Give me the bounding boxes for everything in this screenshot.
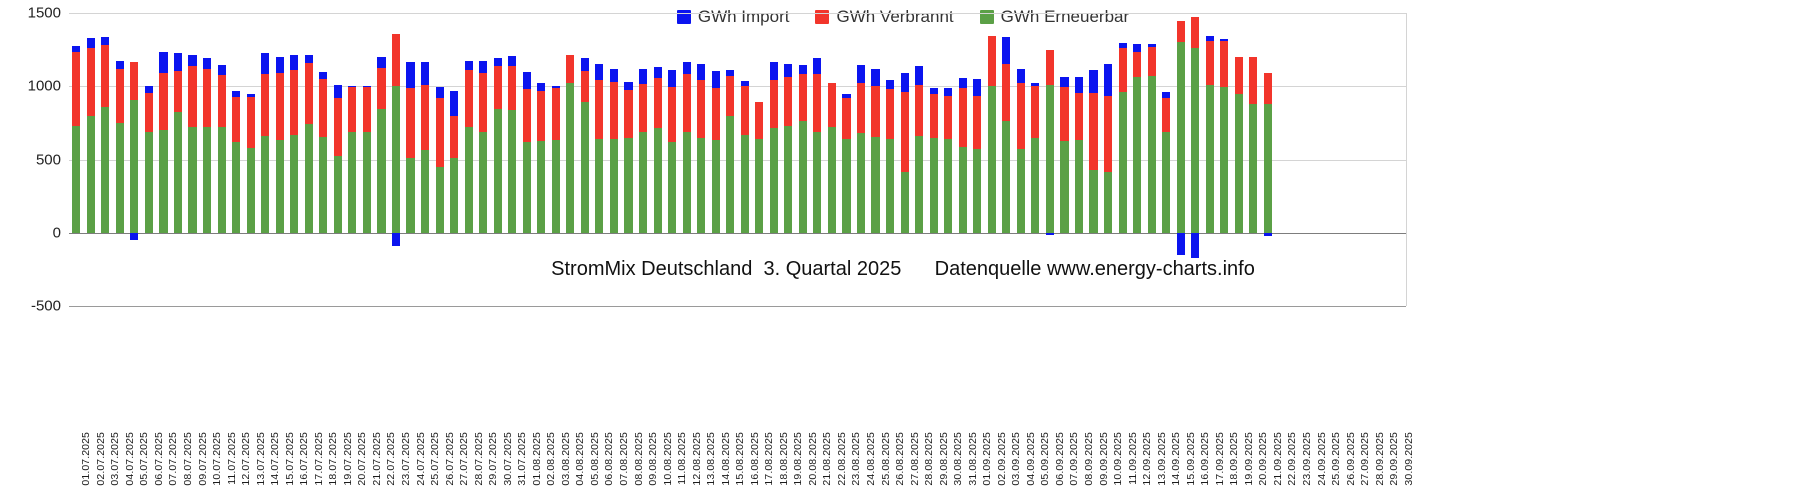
- bar-segment-verbrannt: [842, 98, 850, 139]
- y-tick-label-500: 500: [36, 151, 61, 168]
- bar-segment-import: [944, 88, 952, 96]
- bar-segment-verbrannt: [871, 86, 879, 137]
- x-tick-label: 30.08.2025: [952, 432, 964, 486]
- bar-segment-import: [203, 58, 211, 69]
- bar-segment-import: [624, 82, 632, 90]
- bar-segment-verbrannt: [1060, 87, 1068, 141]
- bar-segment-erneuerbar: [377, 109, 385, 233]
- bar-segment-import: [363, 86, 371, 87]
- bar-segment-import: [1220, 39, 1228, 41]
- x-tick-label: 15.07.2025: [284, 432, 296, 486]
- bar-segment-erneuerbar: [901, 172, 909, 233]
- x-tick-label: 09.07.2025: [197, 432, 209, 486]
- bar-segment-verbrannt: [1089, 93, 1097, 171]
- bar-segment-import: [537, 83, 545, 91]
- x-tick-label: 28.09.2025: [1374, 432, 1386, 486]
- bar-segment-erneuerbar: [116, 123, 124, 233]
- bar-segment-import: [188, 55, 196, 66]
- bar-segment-verbrannt: [1220, 41, 1228, 87]
- bar-segment-import: [1075, 77, 1083, 92]
- x-tick-label: 30.07.2025: [502, 432, 514, 486]
- bar-segment-import: [1017, 69, 1025, 83]
- bar-segment-erneuerbar: [101, 107, 109, 233]
- bar-segment-import: [261, 53, 269, 74]
- x-tick-label: 10.07.2025: [211, 432, 223, 486]
- bar-segment-import: [1031, 83, 1039, 85]
- bar-segment-erneuerbar: [232, 142, 240, 233]
- x-axis-labels: 01.07.202502.07.202503.07.202504.07.2025…: [69, 306, 1406, 441]
- bar-segment-erneuerbar: [1133, 77, 1141, 232]
- x-tick-label: 18.08.2025: [778, 432, 790, 486]
- x-tick-label: 28.07.2025: [473, 432, 485, 486]
- bar-segment-erneuerbar: [988, 86, 996, 233]
- bar-segment-import: [639, 69, 647, 84]
- y-axis-labels: 150010005000-500: [0, 0, 69, 441]
- bar-segment-erneuerbar: [1017, 149, 1025, 233]
- bar-segment-verbrannt: [1177, 21, 1185, 42]
- bar-segment-verbrannt: [377, 68, 385, 109]
- bar-segment-import: [494, 58, 502, 67]
- bar-segment-import: [813, 58, 821, 74]
- bar-segment-erneuerbar: [261, 136, 269, 233]
- bar-segment-import: [232, 91, 240, 97]
- x-tick-label: 07.09.2025: [1068, 432, 1080, 486]
- bar-segment-import: [421, 62, 429, 85]
- bar-segment-import: [654, 67, 662, 78]
- bar-segment-erneuerbar: [915, 136, 923, 233]
- x-tick-label: 01.07.2025: [80, 432, 92, 486]
- bar-segment-erneuerbar: [145, 132, 153, 233]
- bar-segment-verbrannt: [654, 78, 662, 128]
- x-tick-label: 02.07.2025: [95, 432, 107, 486]
- bar-segment-erneuerbar: [1089, 170, 1097, 232]
- x-tick-label: 24.09.2025: [1316, 432, 1328, 486]
- x-tick-label: 02.08.2025: [545, 432, 557, 486]
- bar-segment-erneuerbar: [421, 150, 429, 233]
- x-tick-label: 06.08.2025: [603, 432, 615, 486]
- bar-segment-erneuerbar: [436, 167, 444, 233]
- bar-segment-verbrannt: [1002, 64, 1010, 122]
- bar-segment-erneuerbar: [1046, 85, 1054, 233]
- bar-segment-verbrannt: [595, 80, 603, 139]
- bar-segment-erneuerbar: [581, 102, 589, 232]
- y-tick-label--500: -500: [31, 298, 61, 315]
- bar-segment-erneuerbar: [973, 149, 981, 233]
- bar-segment-erneuerbar: [1162, 132, 1170, 233]
- bar-segment-verbrannt: [712, 88, 720, 140]
- x-tick-label: 21.07.2025: [371, 432, 383, 486]
- bar-segment-erneuerbar: [87, 116, 95, 233]
- bar-segment-erneuerbar: [218, 127, 226, 233]
- x-tick-label: 24.07.2025: [415, 432, 427, 486]
- bar-segment-verbrannt: [218, 75, 226, 127]
- bar-segment-import: [1148, 44, 1156, 48]
- bar-segment-erneuerbar: [479, 132, 487, 233]
- bar-segment-import-negative: [1177, 233, 1185, 256]
- bar-segment-erneuerbar: [508, 110, 516, 232]
- bar-segment-verbrannt: [392, 34, 400, 86]
- bar-segment-verbrannt: [959, 88, 967, 147]
- bar-segment-import-negative: [392, 233, 400, 246]
- bar-segment-import-negative: [1046, 233, 1054, 235]
- bar-segment-erneuerbar: [566, 83, 574, 232]
- x-tick-label: 29.09.2025: [1388, 432, 1400, 486]
- bar-segment-verbrannt: [1249, 57, 1257, 104]
- bar-segment-import: [552, 86, 560, 88]
- bar-segment-erneuerbar: [741, 135, 749, 233]
- x-tick-label: 26.08.2025: [894, 432, 906, 486]
- bar-segment-erneuerbar: [392, 86, 400, 233]
- bar-segment-verbrannt: [450, 116, 458, 158]
- bar-segment-erneuerbar: [523, 142, 531, 233]
- x-tick-label: 04.07.2025: [124, 432, 136, 486]
- bar-segment-import: [741, 81, 749, 85]
- bar-segment-verbrannt: [1206, 41, 1214, 85]
- bar-segment-erneuerbar: [828, 127, 836, 232]
- bar-segment-import: [450, 91, 458, 116]
- x-tick-label: 30.09.2025: [1403, 432, 1415, 486]
- x-tick-label: 10.09.2025: [1112, 432, 1124, 486]
- x-tick-label: 01.08.2025: [531, 432, 543, 486]
- bar-segment-verbrannt: [944, 96, 952, 139]
- bar-segment-erneuerbar: [188, 127, 196, 232]
- bar-segment-import: [697, 64, 705, 81]
- bar-segment-verbrannt: [436, 98, 444, 167]
- bar-segment-import: [726, 70, 734, 76]
- bar-segment-import: [1162, 92, 1170, 98]
- bar-segment-import: [305, 55, 313, 63]
- bar-segment-import: [1104, 64, 1112, 95]
- x-tick-label: 31.08.2025: [967, 432, 979, 486]
- bar-segment-erneuerbar: [406, 158, 414, 233]
- bar-segment-verbrannt: [261, 74, 269, 136]
- bar-segment-verbrannt: [857, 83, 865, 134]
- bar-segment-verbrannt: [87, 48, 95, 115]
- bar-segment-import: [290, 55, 298, 70]
- bar-segment-import: [610, 69, 618, 82]
- bar-segment-verbrannt: [828, 83, 836, 128]
- bar-segment-erneuerbar: [944, 139, 952, 233]
- bar-segment-verbrannt: [1046, 50, 1054, 84]
- bar-segment-verbrannt: [799, 74, 807, 122]
- bar-segment-erneuerbar: [348, 132, 356, 232]
- bar-segment-import: [886, 80, 894, 90]
- x-tick-label: 13.08.2025: [705, 432, 717, 486]
- bar-segment-erneuerbar: [668, 142, 676, 233]
- bar-segment-import-negative: [1264, 233, 1272, 237]
- bar-segment-erneuerbar: [1031, 138, 1039, 232]
- bar-segment-verbrannt: [1264, 73, 1272, 104]
- x-tick-label: 17.09.2025: [1214, 432, 1226, 486]
- x-tick-label: 24.08.2025: [865, 432, 877, 486]
- x-tick-label: 02.09.2025: [996, 432, 1008, 486]
- x-tick-label: 13.09.2025: [1156, 432, 1168, 486]
- bar-segment-verbrannt: [523, 89, 531, 142]
- bar-segment-import: [436, 87, 444, 98]
- bar-segment-import: [1133, 44, 1141, 52]
- bar-segment-import-negative: [1191, 233, 1199, 259]
- bar-segment-erneuerbar: [203, 127, 211, 232]
- bar-segment-erneuerbar: [1119, 92, 1127, 233]
- bar-segment-import: [799, 65, 807, 74]
- bar-segment-erneuerbar: [537, 141, 545, 233]
- bar-segment-verbrannt: [566, 55, 574, 84]
- bar-segment-erneuerbar: [624, 138, 632, 232]
- bar-segment-erneuerbar: [247, 148, 255, 233]
- bar-segment-verbrannt: [494, 66, 502, 108]
- bar-segment-verbrannt: [770, 80, 778, 128]
- x-tick-label: 17.08.2025: [763, 432, 775, 486]
- x-tick-label: 25.09.2025: [1330, 432, 1342, 486]
- x-tick-label: 11.09.2025: [1127, 432, 1139, 485]
- bar-segment-import: [72, 46, 80, 52]
- bar-segment-verbrannt: [247, 97, 255, 148]
- bar-segment-erneuerbar: [799, 121, 807, 232]
- x-tick-label: 15.08.2025: [734, 432, 746, 486]
- x-tick-label: 21.09.2025: [1272, 432, 1284, 486]
- x-tick-label: 23.07.2025: [400, 432, 412, 486]
- bar-segment-import: [101, 37, 109, 45]
- x-tick-label: 29.08.2025: [938, 432, 950, 486]
- x-tick-label: 07.07.2025: [167, 432, 179, 486]
- x-tick-label: 31.07.2025: [516, 432, 528, 486]
- bar-segment-erneuerbar: [610, 139, 618, 233]
- bar-segment-import: [1119, 43, 1127, 48]
- x-tick-label: 22.07.2025: [385, 432, 397, 486]
- x-tick-label: 14.08.2025: [720, 432, 732, 486]
- bar-segment-import: [465, 61, 473, 71]
- x-tick-label: 27.09.2025: [1359, 432, 1371, 486]
- bar-segment-erneuerbar: [871, 137, 879, 233]
- bar-segment-verbrannt: [1017, 83, 1025, 148]
- x-tick-label: 03.08.2025: [560, 432, 572, 486]
- bar-segment-erneuerbar: [712, 140, 720, 232]
- bar-segment-erneuerbar: [1075, 140, 1083, 233]
- bar-segment-erneuerbar: [886, 139, 894, 233]
- x-tick-label: 22.08.2025: [836, 432, 848, 486]
- bar-segment-import: [959, 78, 967, 88]
- bar-segment-erneuerbar: [319, 137, 327, 233]
- bar-segment-verbrannt: [901, 92, 909, 172]
- x-tick-label: 11.07.2025: [226, 432, 238, 485]
- x-tick-label: 16.09.2025: [1199, 432, 1211, 486]
- bar-segment-import: [159, 52, 167, 73]
- bar-segment-import: [871, 69, 879, 86]
- x-tick-label: 16.07.2025: [298, 432, 310, 486]
- x-tick-label: 14.09.2025: [1170, 432, 1182, 486]
- bar-segment-verbrannt: [290, 70, 298, 134]
- x-tick-label: 05.08.2025: [589, 432, 601, 486]
- y-tick-label-0: 0: [53, 224, 61, 241]
- bar-segment-import: [334, 85, 342, 98]
- bar-segment-import: [915, 66, 923, 85]
- bar-segment-import: [1206, 36, 1214, 40]
- bar-segment-erneuerbar: [813, 132, 821, 233]
- bar-segment-verbrannt: [232, 97, 240, 142]
- bar-segment-erneuerbar: [1264, 104, 1272, 233]
- bar-segment-import: [930, 88, 938, 95]
- bar-segment-verbrannt: [886, 89, 894, 139]
- bar-segment-verbrannt: [1148, 47, 1156, 76]
- x-tick-label: 22.09.2025: [1286, 432, 1298, 486]
- x-tick-label: 04.08.2025: [574, 432, 586, 486]
- bar-segment-erneuerbar: [1220, 87, 1228, 233]
- bar-segment-import: [901, 73, 909, 92]
- bar-segment-verbrannt: [1031, 86, 1039, 139]
- bar-segment-verbrannt: [581, 71, 589, 102]
- x-tick-label: 04.09.2025: [1025, 432, 1037, 486]
- bar-segment-import: [406, 62, 414, 88]
- bar-segment-erneuerbar: [334, 156, 342, 233]
- bar-segment-erneuerbar: [857, 133, 865, 233]
- bar-segment-import: [116, 61, 124, 69]
- x-tick-label: 05.09.2025: [1039, 432, 1051, 486]
- x-tick-label: 07.08.2025: [618, 432, 630, 486]
- bar-segment-verbrannt: [1104, 96, 1112, 172]
- x-tick-label: 12.08.2025: [691, 432, 703, 486]
- bar-segment-erneuerbar: [726, 116, 734, 232]
- bar-segment-verbrannt: [915, 85, 923, 136]
- x-tick-label: 27.08.2025: [909, 432, 921, 486]
- bar-segment-erneuerbar: [130, 100, 138, 233]
- bar-segment-erneuerbar: [305, 124, 313, 232]
- bar-segment-verbrannt: [145, 93, 153, 132]
- x-tick-label: 23.09.2025: [1301, 432, 1313, 486]
- bar-segment-erneuerbar: [1002, 121, 1010, 232]
- bar-segment-verbrannt: [610, 82, 618, 139]
- x-tick-label: 01.09.2025: [981, 432, 993, 486]
- bar-segment-erneuerbar: [842, 139, 850, 233]
- bar-segment-erneuerbar: [1177, 42, 1185, 233]
- x-tick-label: 11.08.2025: [676, 432, 688, 485]
- x-tick-label: 19.09.2025: [1243, 432, 1255, 486]
- x-tick-label: 09.08.2025: [647, 432, 659, 486]
- x-tick-label: 29.07.2025: [487, 432, 499, 486]
- bar-segment-verbrannt: [1191, 17, 1199, 48]
- bar-segment-erneuerbar: [930, 138, 938, 232]
- x-tick-label: 12.07.2025: [240, 432, 252, 486]
- bar-segment-import: [377, 57, 385, 68]
- bar-segment-verbrannt: [741, 86, 749, 135]
- bar-segment-verbrannt: [334, 98, 342, 156]
- bar-segment-verbrannt: [276, 73, 284, 140]
- bar-segment-verbrannt: [348, 87, 356, 132]
- bar-segment-import: [1002, 37, 1010, 63]
- x-tick-label: 08.08.2025: [633, 432, 645, 486]
- bar-segment-verbrannt: [1133, 52, 1141, 78]
- x-tick-label: 15.09.2025: [1185, 432, 1197, 486]
- x-tick-label: 12.09.2025: [1141, 432, 1153, 486]
- bar-segment-erneuerbar: [755, 139, 763, 233]
- bar-segment-import: [479, 61, 487, 73]
- bar-segment-verbrannt: [1162, 98, 1170, 132]
- bar-segment-verbrannt: [363, 86, 371, 131]
- bar-segment-import: [218, 65, 226, 75]
- bar-segment-verbrannt: [72, 52, 80, 126]
- bar-segment-verbrannt: [537, 91, 545, 142]
- chart-title: StromMix Deutschland 3. Quartal 2025 Dat…: [0, 258, 1806, 281]
- x-tick-label: 06.07.2025: [153, 432, 165, 486]
- y-tick-label-1000: 1000: [28, 78, 61, 95]
- x-tick-label: 27.07.2025: [458, 432, 470, 486]
- bar-segment-erneuerbar: [552, 140, 560, 232]
- bar-segment-import: [784, 64, 792, 77]
- bar-segment-verbrannt: [1235, 57, 1243, 94]
- bar-segment-import: [523, 72, 531, 89]
- bar-segment-verbrannt: [668, 87, 676, 142]
- bar-segment-import: [581, 58, 589, 71]
- x-tick-label: 18.09.2025: [1228, 432, 1240, 486]
- x-tick-label: 06.09.2025: [1054, 432, 1066, 486]
- bar-segment-verbrannt: [479, 73, 487, 132]
- bar-segment-erneuerbar: [1249, 104, 1257, 233]
- bar-segment-erneuerbar: [276, 140, 284, 232]
- bar-segment-import: [319, 72, 327, 79]
- x-tick-label: 25.07.2025: [429, 432, 441, 486]
- bar-segment-erneuerbar: [1104, 172, 1112, 233]
- bar-segment-verbrannt: [130, 62, 138, 100]
- bar-segment-import: [973, 79, 981, 96]
- bar-segment-import: [348, 86, 356, 87]
- bar-segment-erneuerbar: [450, 158, 458, 233]
- bar-segment-verbrannt: [930, 94, 938, 138]
- x-tick-label: 20.09.2025: [1257, 432, 1269, 486]
- bar-segment-import: [770, 62, 778, 80]
- bar-segment-erneuerbar: [465, 127, 473, 232]
- bar-segment-verbrannt: [683, 74, 691, 133]
- bar-segment-verbrannt: [813, 74, 821, 132]
- x-tick-label: 19.07.2025: [342, 432, 354, 486]
- bar-segment-import: [1060, 77, 1068, 87]
- bar-segment-verbrannt: [726, 76, 734, 116]
- x-tick-label: 26.09.2025: [1345, 432, 1357, 486]
- x-tick-label: 08.09.2025: [1083, 432, 1095, 486]
- bar-segment-erneuerbar: [1206, 85, 1214, 233]
- bar-segment-verbrannt: [697, 80, 705, 137]
- bar-segment-verbrannt: [319, 79, 327, 137]
- bar-segment-erneuerbar: [1235, 94, 1243, 233]
- x-tick-label: 14.07.2025: [269, 432, 281, 486]
- bar-segment-import: [712, 71, 720, 89]
- bar-segment-verbrannt: [406, 88, 414, 158]
- bar-segment-verbrannt: [1119, 48, 1127, 92]
- bar-segment-verbrannt: [508, 66, 516, 110]
- x-tick-label: 08.07.2025: [182, 432, 194, 486]
- x-tick-label: 13.07.2025: [255, 432, 267, 486]
- bar-segment-import: [842, 94, 850, 98]
- bar-segment-import: [508, 56, 516, 66]
- bar-segment-erneuerbar: [159, 130, 167, 233]
- bar-segment-verbrannt: [465, 70, 473, 127]
- x-tick-label: 28.08.2025: [923, 432, 935, 486]
- bar-segment-erneuerbar: [959, 147, 967, 233]
- bar-segment-erneuerbar: [363, 132, 371, 233]
- x-tick-label: 20.07.2025: [356, 432, 368, 486]
- bar-segment-verbrannt: [988, 36, 996, 85]
- bar-segment-verbrannt: [784, 77, 792, 126]
- bar-segment-verbrannt: [973, 96, 981, 149]
- x-tick-label: 03.07.2025: [109, 432, 121, 486]
- bar-segment-verbrannt: [116, 69, 124, 123]
- bar-segment-erneuerbar: [72, 126, 80, 233]
- bar-segment-erneuerbar: [683, 132, 691, 232]
- x-tick-label: 03.09.2025: [1010, 432, 1022, 486]
- bar-segment-import: [87, 38, 95, 48]
- bar-segment-import: [668, 70, 676, 87]
- x-tick-label: 20.08.2025: [807, 432, 819, 486]
- x-tick-label: 23.08.2025: [850, 432, 862, 486]
- bar-segment-erneuerbar: [697, 138, 705, 233]
